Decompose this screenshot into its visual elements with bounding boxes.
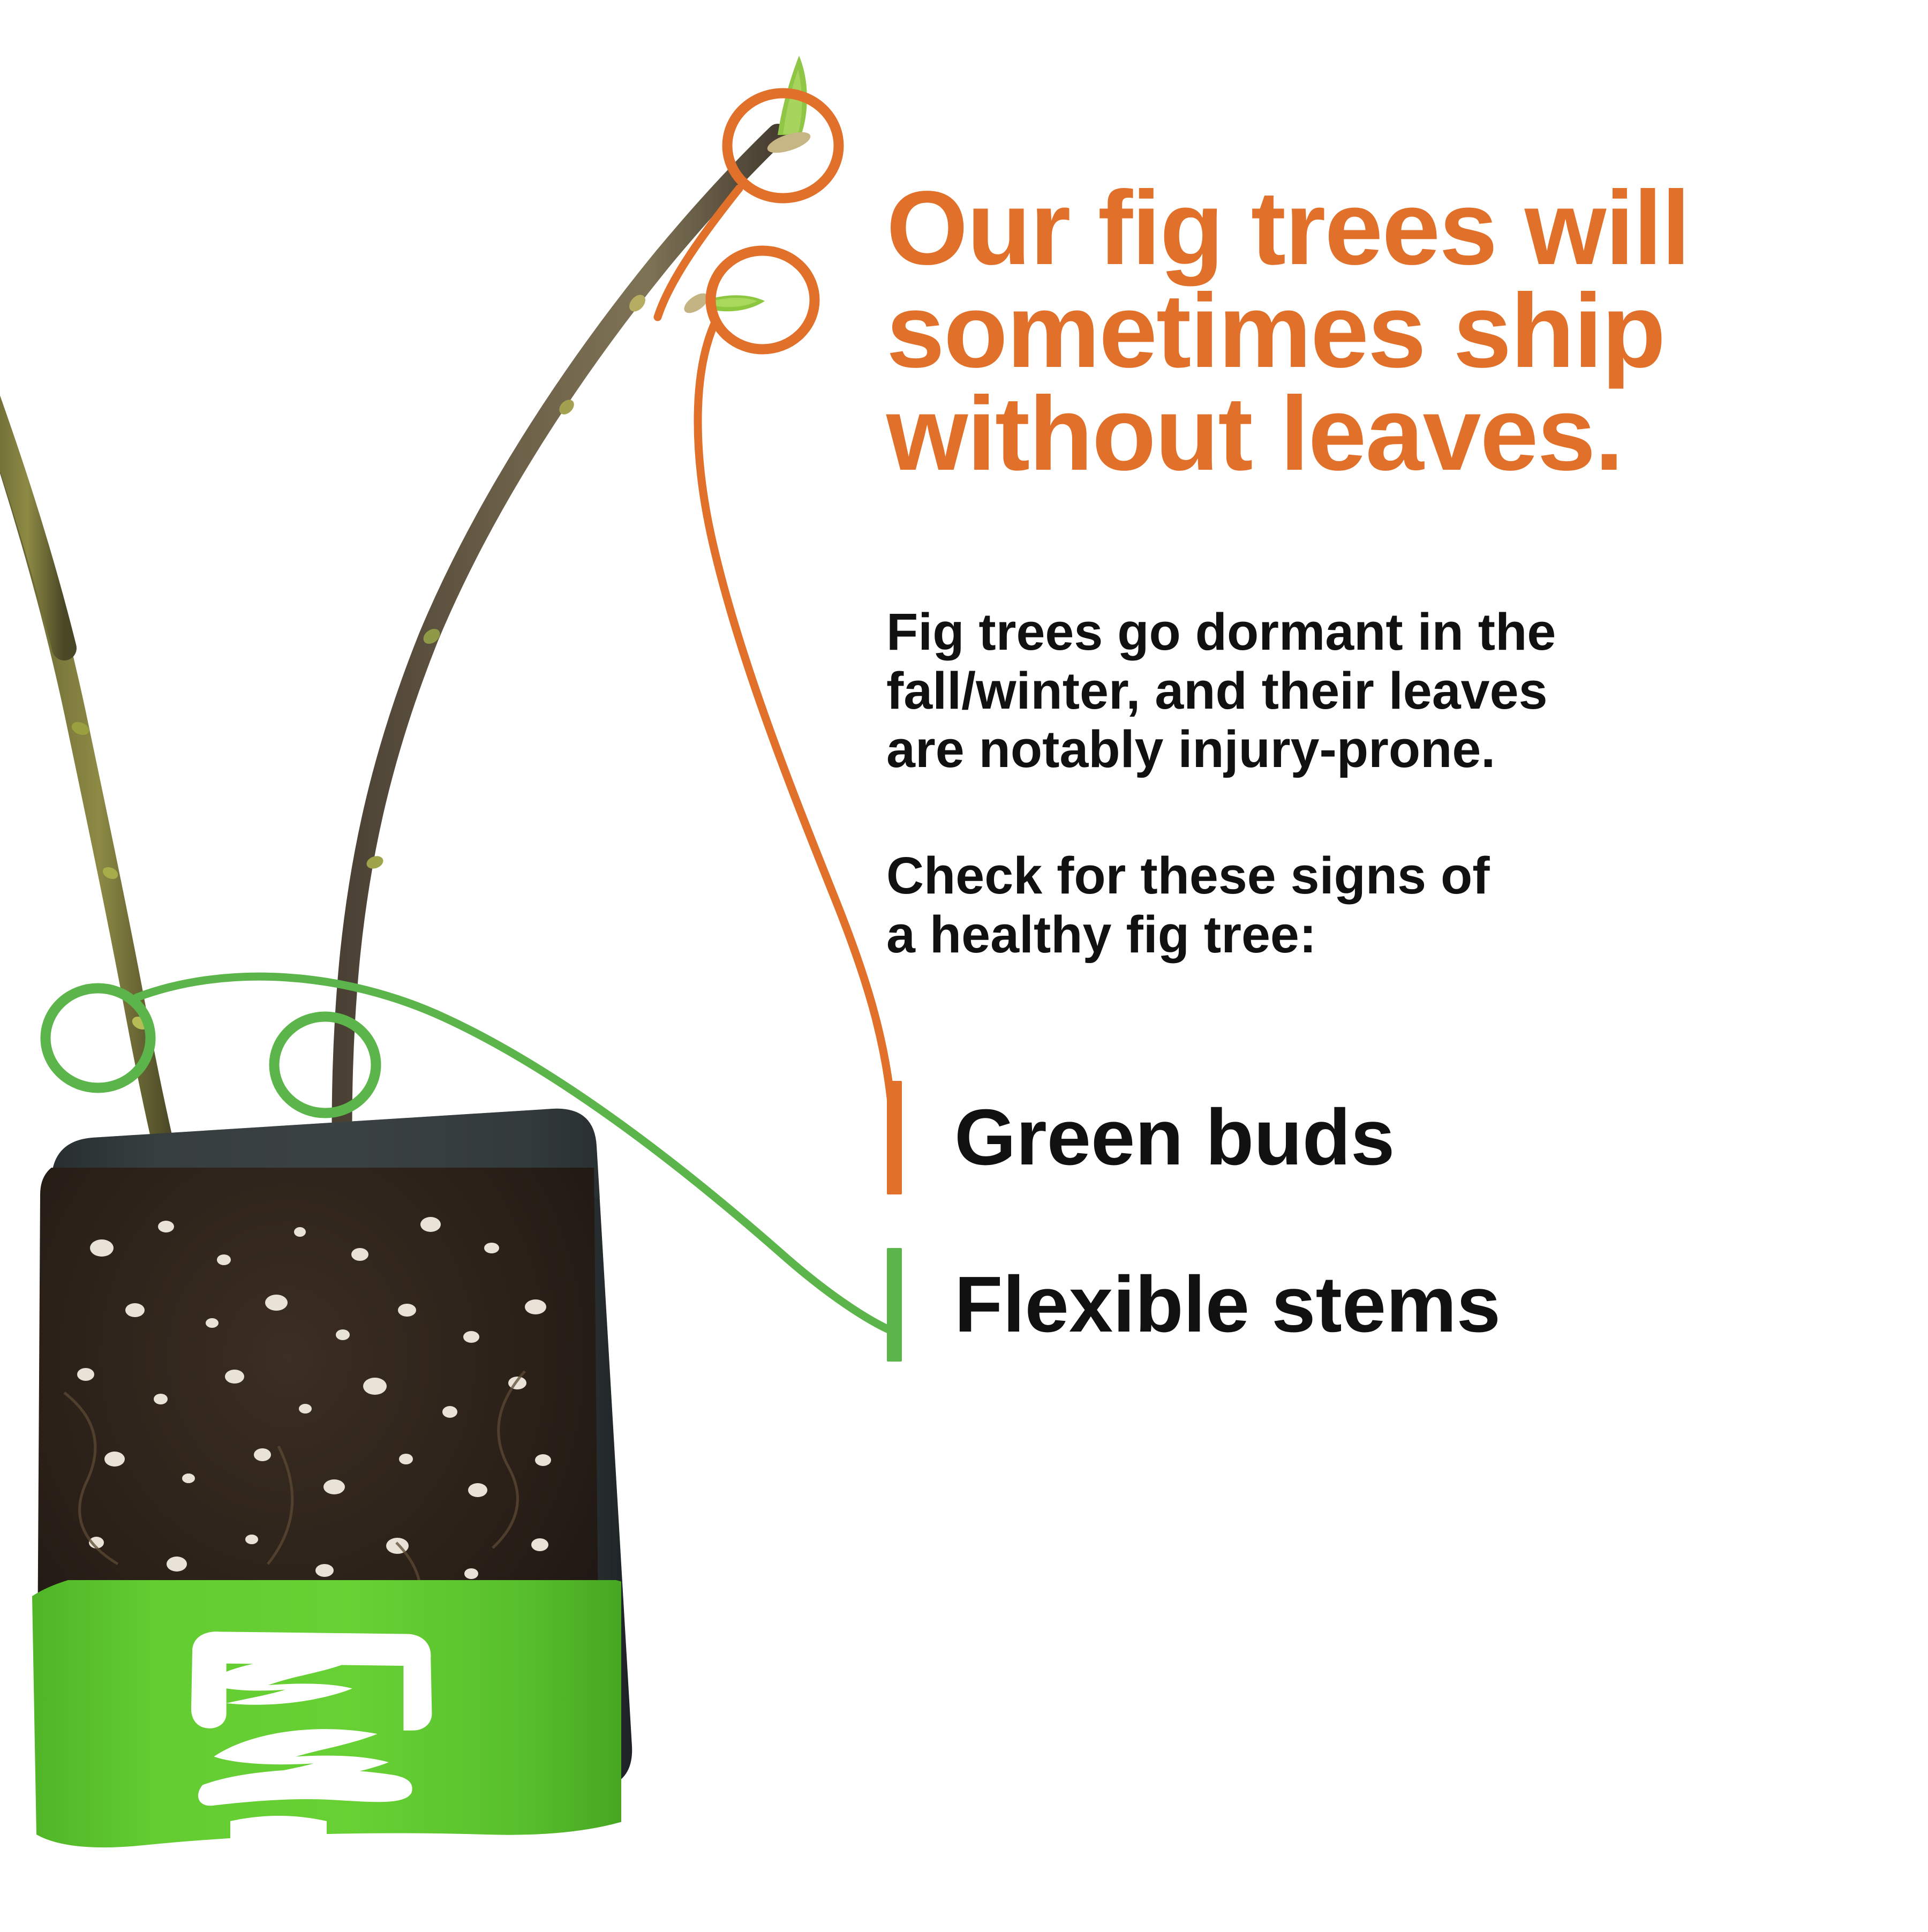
callout-flexible-stems: Flexible stems [887, 1248, 1501, 1362]
orange-marker-bar [887, 1081, 902, 1194]
fig-tree-photo [0, 0, 857, 1932]
body-paragraph-2: Check for these signs of a healthy fig t… [886, 846, 1840, 964]
callout-label-flexible-stems: Flexible stems [954, 1265, 1501, 1344]
infographic-canvas: Our fig trees will sometimes ship withou… [0, 0, 1928, 1932]
green-marker-bar [887, 1248, 902, 1362]
text-column: Our fig trees will sometimes ship withou… [886, 177, 1877, 485]
callout-label-green-buds: Green buds [954, 1098, 1395, 1177]
body-paragraph-1: Fig trees go dormant in the fall/winter,… [886, 603, 1840, 779]
callout-green-buds: Green buds [887, 1081, 1395, 1194]
page-headline: Our fig trees will sometimes ship withou… [886, 177, 1877, 485]
